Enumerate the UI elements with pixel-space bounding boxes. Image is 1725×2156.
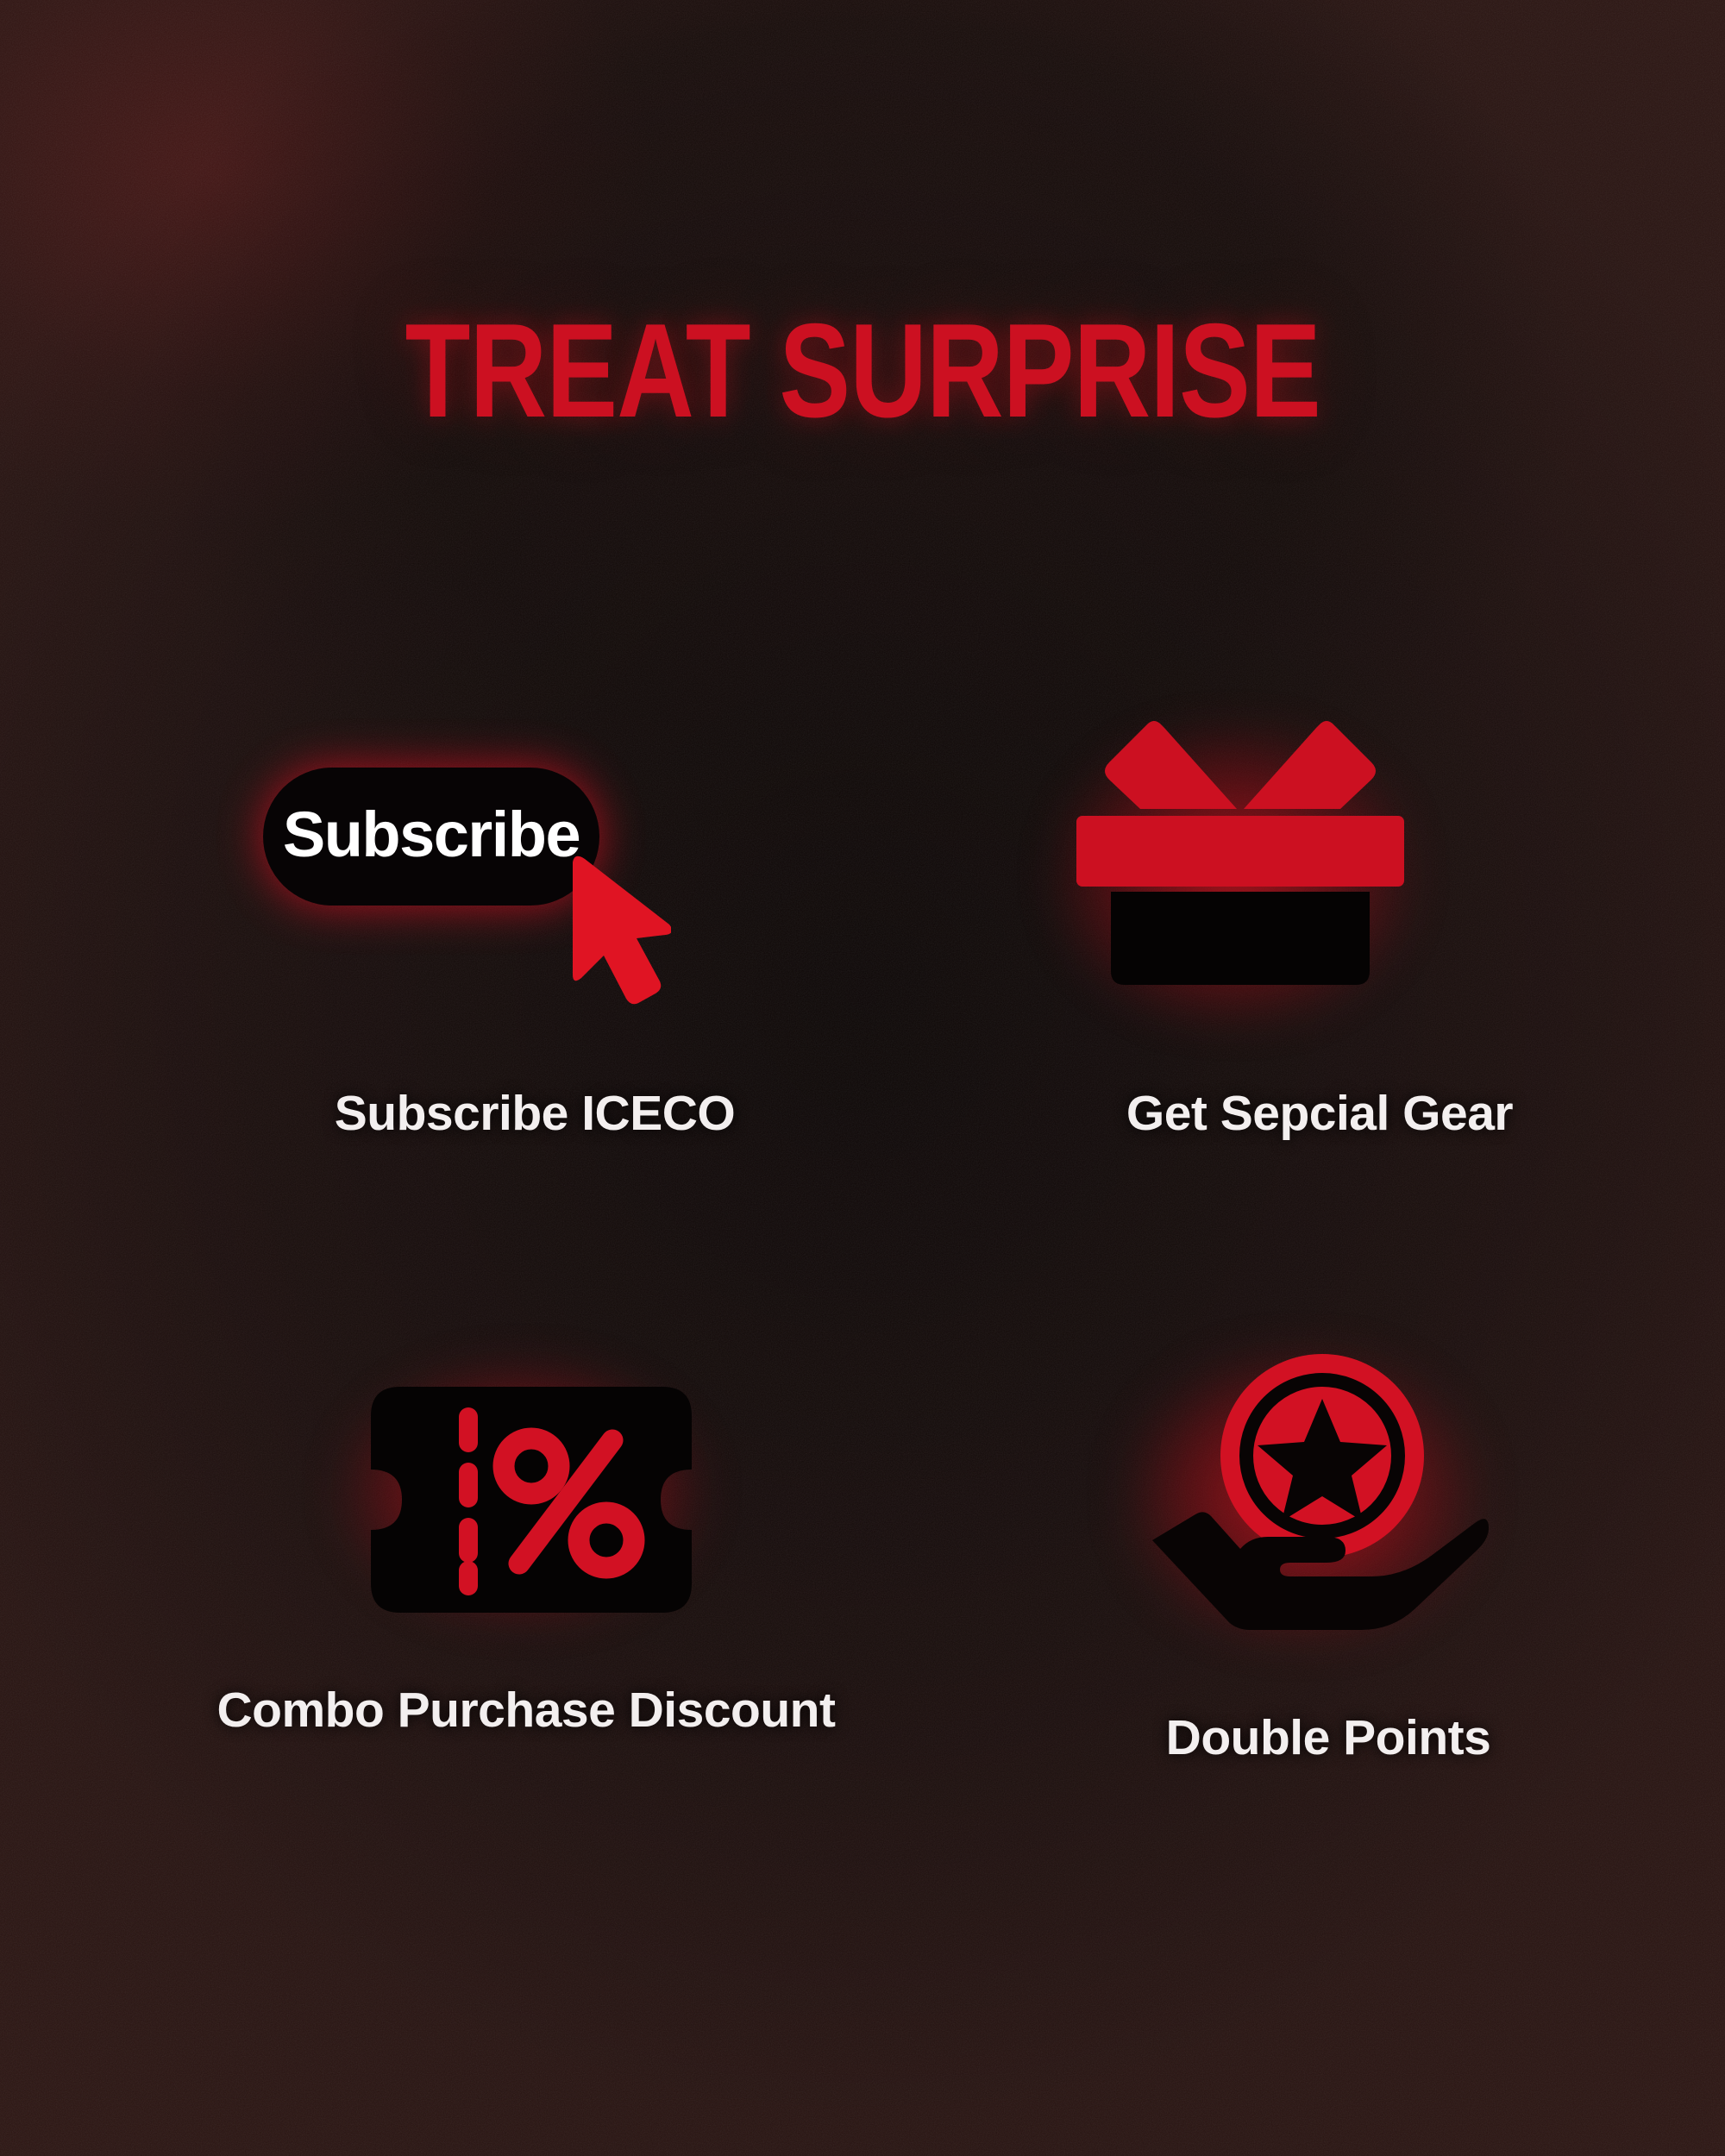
- benefit-label-gear: Get Sepcial Gear: [1018, 1085, 1621, 1142]
- benefit-label-discount: Combo Purchase Discount: [155, 1682, 897, 1739]
- discount-ticket-shape: [371, 1387, 692, 1613]
- page-title: TREAT SURPRISE: [0, 304, 1725, 437]
- subscribe-pill[interactable]: Subscribe: [263, 768, 599, 906]
- coin-in-hand-shape: [1145, 1345, 1490, 1647]
- subscribe-pill-label: Subscribe: [283, 798, 580, 871]
- page-title-text: TREAT SURPRISE: [405, 304, 1320, 437]
- benefit-card-subscribe[interactable]: Subscribe Subscribe ICECO: [216, 724, 854, 1156]
- benefit-card-discount[interactable]: Combo Purchase Discount: [155, 1345, 897, 1828]
- benefit-label-points: Double Points: [1044, 1709, 1613, 1766]
- benefit-card-points[interactable]: Double Points: [1044, 1328, 1613, 1828]
- benefit-label-subscribe: Subscribe ICECO: [216, 1085, 854, 1142]
- gift-box-shape: [1068, 707, 1413, 1000]
- arrow-cursor-icon: [559, 856, 671, 1006]
- benefit-card-gear[interactable]: Get Sepcial Gear: [1018, 673, 1621, 1156]
